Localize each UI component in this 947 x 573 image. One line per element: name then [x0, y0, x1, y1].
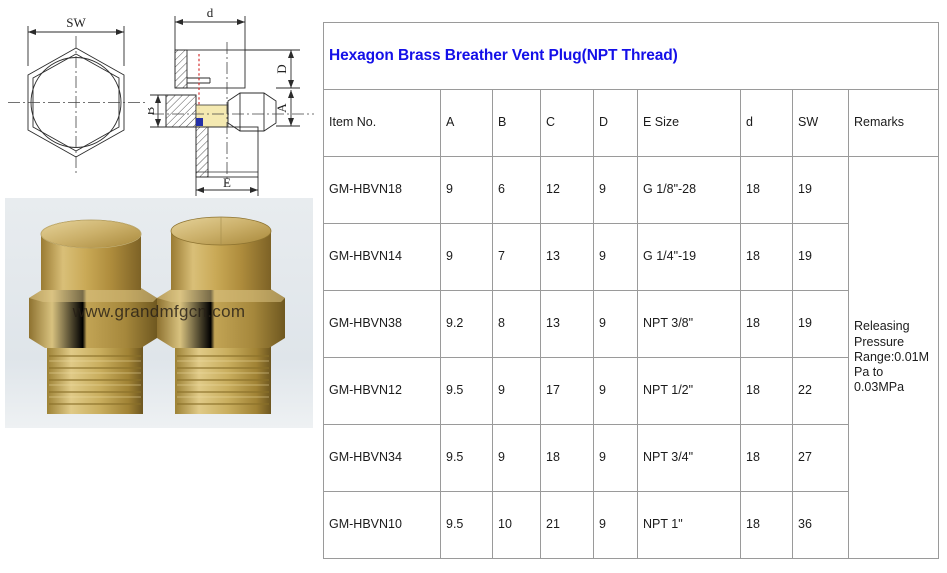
cell-b: 10 [493, 492, 541, 559]
sw-dimension-label: SW [66, 15, 86, 30]
column-header-remarks: Remarks [849, 90, 939, 157]
cell-item-no: GM-HBVN38 [324, 291, 441, 358]
cell-item-no: GM-HBVN12 [324, 358, 441, 425]
column-header-a: A [441, 90, 493, 157]
cell-b: 9 [493, 425, 541, 492]
cell-remarks-merged: Releasing Pressure Range:0.01M Pa to 0.0… [849, 157, 939, 559]
column-header-item-no: Item No. [324, 90, 441, 157]
column-header-c: C [541, 90, 594, 157]
D-dimension-label: D [274, 64, 289, 73]
A-dimension-label: A [274, 103, 289, 113]
cell-c: 13 [541, 224, 594, 291]
cell-e-size: NPT 1/2" [638, 358, 741, 425]
photo-watermark: www.grandmfgcn.com [5, 302, 313, 322]
column-header-sw: SW [793, 90, 849, 157]
cell-sw: 19 [793, 224, 849, 291]
cell-item-no: GM-HBVN18 [324, 157, 441, 224]
cell-sw: 22 [793, 358, 849, 425]
cell-item-no: GM-HBVN14 [324, 224, 441, 291]
cell-c: 12 [541, 157, 594, 224]
cell-a: 9 [441, 224, 493, 291]
specification-table-container: Hexagon Brass Breather Vent Plug(NPT Thr… [323, 22, 938, 550]
column-header-d-upper: D [594, 90, 638, 157]
cell-d-upper: 9 [594, 224, 638, 291]
table-title-cell: Hexagon Brass Breather Vent Plug(NPT Thr… [324, 23, 939, 90]
table-row: GM-HBVN18 9 6 12 9 G 1/8"-28 18 19 Relea… [324, 157, 939, 224]
cell-d-upper: 9 [594, 291, 638, 358]
table-row: GM-HBVN34 9.5 9 18 9 NPT 3/4" 18 27 [324, 425, 939, 492]
cell-c: 17 [541, 358, 594, 425]
cell-e-size: NPT 3/8" [638, 291, 741, 358]
table-row: GM-HBVN38 9.2 8 13 9 NPT 3/8" 18 19 [324, 291, 939, 358]
hexagon-top-view-svg: SW [6, 6, 151, 196]
cell-d-lower: 18 [741, 358, 793, 425]
cell-d-upper: 9 [594, 157, 638, 224]
table-title-row: Hexagon Brass Breather Vent Plug(NPT Thr… [324, 23, 939, 90]
cell-d-lower: 18 [741, 425, 793, 492]
cell-d-lower: 18 [741, 291, 793, 358]
product-photo: www.grandmfgcn.com [5, 198, 313, 428]
cross-section-svg: d D A B E [148, 2, 318, 198]
cell-c: 18 [541, 425, 594, 492]
column-header-d-lower: d [741, 90, 793, 157]
cell-d-upper: 9 [594, 425, 638, 492]
column-header-b: B [493, 90, 541, 157]
cell-c: 13 [541, 291, 594, 358]
table-row: GM-HBVN14 9 7 13 9 G 1/4"-19 18 19 [324, 224, 939, 291]
table-row: GM-HBVN12 9.5 9 17 9 NPT 1/2" 18 22 [324, 358, 939, 425]
B-dimension-label: B [148, 106, 157, 115]
cell-sw: 19 [793, 291, 849, 358]
cell-d-lower: 18 [741, 157, 793, 224]
hexagon-top-view-drawing: SW [6, 6, 151, 196]
specification-table: Hexagon Brass Breather Vent Plug(NPT Thr… [323, 22, 939, 559]
d-dimension-label: d [207, 5, 214, 20]
detail-marker [196, 118, 203, 126]
cell-e-size: NPT 3/4" [638, 425, 741, 492]
page-title: Hexagon Brass Breather Vent Plug(NPT Thr… [329, 47, 678, 64]
cell-a: 9.5 [441, 425, 493, 492]
column-header-e-size: E Size [638, 90, 741, 157]
cell-e-size: G 1/4"-19 [638, 224, 741, 291]
cell-item-no: GM-HBVN34 [324, 425, 441, 492]
cell-a: 9.5 [441, 358, 493, 425]
cell-c: 21 [541, 492, 594, 559]
technical-drawings-group: SW [0, 0, 320, 196]
table-header-row: Item No. A B C D E Size d SW Remarks [324, 90, 939, 157]
cell-d-upper: 9 [594, 358, 638, 425]
cell-b: 9 [493, 358, 541, 425]
left-illustration-panel: SW [0, 0, 320, 573]
cross-section-drawing: d D A B E [148, 2, 318, 198]
cell-d-lower: 18 [741, 492, 793, 559]
cell-a: 9.5 [441, 492, 493, 559]
cell-e-size: NPT 1" [638, 492, 741, 559]
cell-b: 6 [493, 157, 541, 224]
cell-a: 9.2 [441, 291, 493, 358]
cell-d-lower: 18 [741, 224, 793, 291]
cell-b: 7 [493, 224, 541, 291]
cell-sw: 27 [793, 425, 849, 492]
cell-d-upper: 9 [594, 492, 638, 559]
E-dimension-label: E [223, 175, 231, 190]
cell-e-size: G 1/8"-28 [638, 157, 741, 224]
cell-b: 8 [493, 291, 541, 358]
cell-item-no: GM-HBVN10 [324, 492, 441, 559]
cell-a: 9 [441, 157, 493, 224]
table-row: GM-HBVN10 9.5 10 21 9 NPT 1" 18 36 [324, 492, 939, 559]
cell-sw: 36 [793, 492, 849, 559]
cell-sw: 19 [793, 157, 849, 224]
